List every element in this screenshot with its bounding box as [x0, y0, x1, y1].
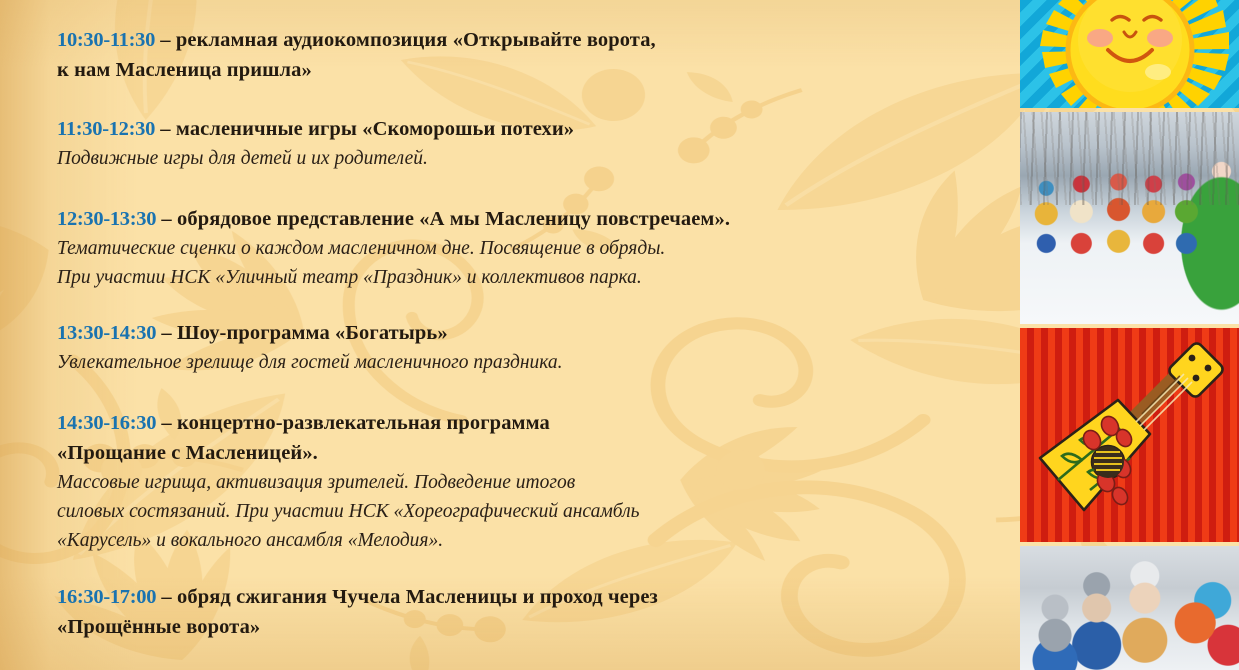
- entry-dash: –: [160, 118, 170, 140]
- schedule-entry: 14:30-16:30 – концертно-развлекательная …: [57, 408, 639, 555]
- entry-dash: –: [160, 29, 170, 51]
- image-rail: [1020, 0, 1239, 670]
- entry-heading-line: 12:30-13:30 – обрядовое представление «А…: [57, 204, 730, 234]
- entry-time: 14:30-16:30: [57, 412, 156, 434]
- folk-costume-photo: [1020, 112, 1239, 324]
- entry-title: Шоу-программа «Богатырь»: [177, 322, 448, 344]
- entry-title-cont: «Прощание с Масленицей».: [57, 438, 639, 468]
- entry-time: 13:30-14:30: [57, 322, 156, 344]
- sun-icon: [1020, 0, 1239, 108]
- entry-heading-line: 10:30-11:30 – рекламная аудиокомпозиция …: [57, 25, 656, 55]
- schedule-entry: 16:30-17:00 – обряд сжигания Чучела Масл…: [57, 582, 658, 642]
- winter-crowd-photo-content: [1020, 546, 1239, 670]
- entry-dash: –: [161, 586, 171, 608]
- schedule-list: 10:30-11:30 – рекламная аудиокомпозиция …: [0, 0, 1020, 670]
- entry-dash: –: [161, 322, 171, 344]
- entry-description: Тематические сценки о каждом масленичном…: [57, 234, 730, 263]
- balalaika-icon: [1020, 328, 1239, 542]
- entry-description: При участии НСК «Уличный театр «Праздник…: [57, 263, 730, 292]
- entry-heading-line: 11:30-12:30 – масленичные игры «Скоморош…: [57, 114, 574, 144]
- smiling-sun-illustration: [1020, 0, 1239, 108]
- entry-title: рекламная аудиокомпозиция «Открывайте во…: [176, 29, 656, 51]
- entry-time: 11:30-12:30: [57, 118, 155, 140]
- entry-title: масленичные игры «Скоморошьи потехи»: [176, 118, 574, 140]
- entry-time: 12:30-13:30: [57, 208, 156, 230]
- winter-trees-texture: [1020, 112, 1239, 205]
- entry-time: 10:30-11:30: [57, 29, 155, 51]
- schedule-entry: 10:30-11:30 – рекламная аудиокомпозиция …: [57, 25, 656, 85]
- schedule-entry: 12:30-13:30 – обрядовое представление «А…: [57, 204, 730, 292]
- entry-title-cont: к нам Масленица пришла»: [57, 55, 656, 85]
- entry-heading-line: 16:30-17:00 – обряд сжигания Чучела Масл…: [57, 582, 658, 612]
- entry-description: Массовые игрища, активизация зрителей. П…: [57, 468, 639, 497]
- entry-dash: –: [161, 208, 171, 230]
- entry-time: 16:30-17:00: [57, 586, 156, 608]
- poster-root: 10:30-11:30 – рекламная аудиокомпозиция …: [0, 0, 1239, 670]
- entry-description: Подвижные игры для детей и их родителей.: [57, 144, 574, 173]
- entry-heading-line: 14:30-16:30 – концертно-развлекательная …: [57, 408, 639, 438]
- entry-title: обрядовое представление «А мы Масленицу …: [177, 208, 730, 230]
- winter-crowd-photo: [1020, 546, 1239, 670]
- entry-dash: –: [161, 412, 171, 434]
- schedule-entry: 11:30-12:30 – масленичные игры «Скоморош…: [57, 114, 574, 173]
- entry-title-cont: «Прощённые ворота»: [57, 612, 658, 642]
- entry-title: концертно-развлекательная программа: [177, 412, 550, 434]
- entry-description: Увлекательное зрелище для гостей маслени…: [57, 348, 563, 377]
- entry-heading-line: 13:30-14:30 – Шоу-программа «Богатырь»: [57, 318, 563, 348]
- schedule-entry: 13:30-14:30 – Шоу-программа «Богатырь» У…: [57, 318, 563, 377]
- entry-description: «Карусель» и вокального ансамбля «Мелоди…: [57, 526, 639, 555]
- entry-description: силовых состязаний. При участии НСК «Хор…: [57, 497, 639, 526]
- entry-title: обряд сжигания Чучела Масленицы и проход…: [177, 586, 658, 608]
- balalaika-illustration: [1020, 328, 1239, 542]
